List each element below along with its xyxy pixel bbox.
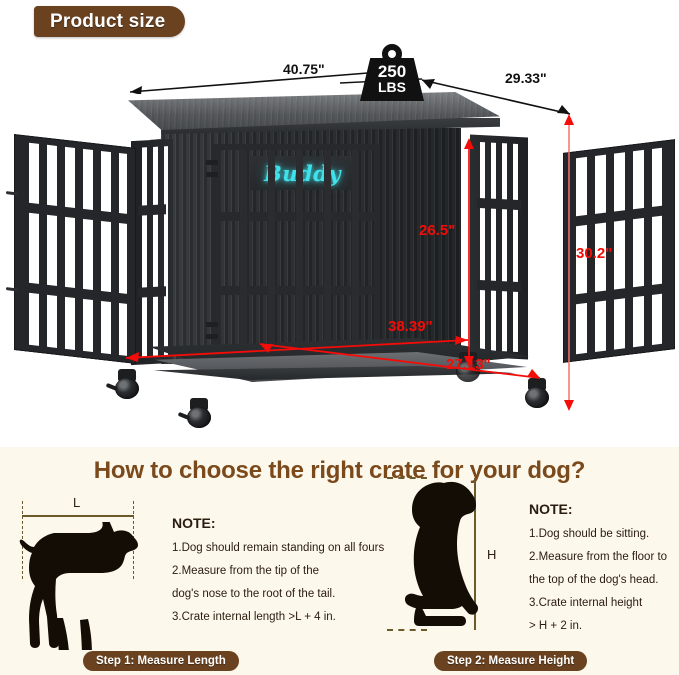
weight-capacity-badge: 250 LBS bbox=[360, 44, 424, 101]
note-line: > H + 2 in. bbox=[529, 617, 582, 636]
gate-bar bbox=[296, 150, 303, 350]
note-line: 2.Measure from the tip of the bbox=[172, 562, 319, 581]
how-to-choose-section: How to choose the right crate for your d… bbox=[0, 447, 679, 675]
note-line: 1.Dog should remain standing on all four… bbox=[172, 539, 384, 558]
door-hinge-pin bbox=[6, 287, 18, 291]
section-title: How to choose the right crate for your d… bbox=[0, 457, 679, 485]
note-line: 2.Measure from the floor to bbox=[529, 548, 667, 567]
note-line: 1.Dog should be sitting. bbox=[529, 525, 649, 544]
gate-bar bbox=[240, 150, 247, 350]
sitting-dog-silhouette bbox=[398, 479, 490, 631]
crate-front-gate bbox=[212, 144, 380, 356]
product-infographic: Product size Buddy bbox=[0, 0, 679, 675]
weight-icon-text: 250 LBS bbox=[360, 63, 424, 95]
note-line: 3.Crate internal length >L + 4 in. bbox=[172, 608, 336, 627]
dimension-label-inner-length: 38.39" bbox=[388, 318, 433, 335]
length-measure-line bbox=[22, 515, 134, 517]
note-line: the top of the dog's head. bbox=[529, 571, 658, 590]
note-line: dog's nose to the root of the tail. bbox=[172, 585, 335, 604]
product-size-section: Product size Buddy bbox=[0, 0, 679, 447]
standing-dog-silhouette bbox=[18, 522, 140, 650]
gate-bar bbox=[324, 150, 331, 350]
dimension-line-depth-top bbox=[418, 72, 578, 118]
weight-value: 250 bbox=[360, 63, 424, 80]
door-bar-grid bbox=[21, 142, 129, 356]
weight-unit: LBS bbox=[360, 80, 424, 94]
dimension-label-inner-height: 26.5" bbox=[419, 222, 455, 239]
note-heading-right: NOTE: bbox=[529, 501, 573, 517]
dimension-line-width-top bbox=[120, 68, 370, 94]
side-panel-bars bbox=[477, 142, 521, 352]
door-hinge-pin bbox=[6, 191, 18, 195]
step-2-badge: Step 2: Measure Height bbox=[434, 651, 587, 671]
dimension-line-total-height bbox=[562, 112, 576, 412]
step-1-badge: Step 1: Measure Length bbox=[83, 651, 239, 671]
caster-wheel bbox=[186, 398, 212, 428]
note-heading-left: NOTE: bbox=[172, 515, 216, 531]
caster-wheel bbox=[114, 369, 140, 399]
length-letter-label: L bbox=[73, 495, 80, 510]
crate-left-side-panel bbox=[131, 139, 173, 365]
note-line: 3.Crate internal height bbox=[529, 594, 642, 613]
gate-hinge bbox=[206, 160, 218, 165]
step-1-label: Step 1: Measure Length bbox=[96, 655, 226, 667]
side-panel-bars bbox=[138, 146, 166, 357]
gate-bar bbox=[268, 150, 275, 350]
crate-door-left[interactable] bbox=[14, 134, 136, 364]
step-2-label: Step 2: Measure Height bbox=[447, 655, 574, 667]
gate-bar bbox=[352, 150, 359, 350]
dimension-label-total-height: 30.2" bbox=[576, 245, 612, 262]
crate-right-side-panel bbox=[470, 134, 528, 359]
gate-hinge bbox=[206, 172, 218, 177]
dimension-line-inner-depth bbox=[256, 338, 546, 384]
gate-hinge bbox=[206, 322, 218, 327]
